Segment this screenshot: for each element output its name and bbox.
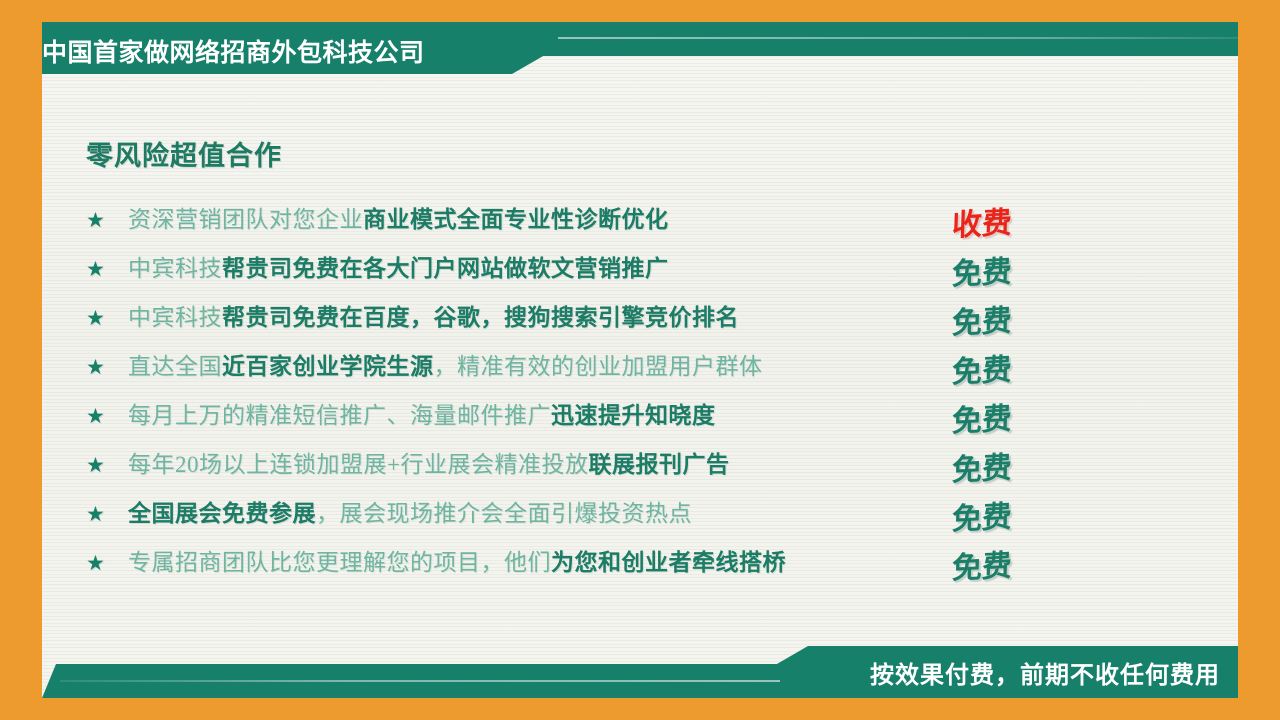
list-item-text: 专属招商团队比您更理解您的项目，他们为您和创业者牵线搭桥 — [128, 549, 1046, 578]
price-badge-row: 免费 — [952, 245, 1072, 294]
star-icon: ★ — [86, 210, 128, 231]
status-badge: 免费 — [951, 393, 1012, 440]
star-icon: ★ — [86, 455, 128, 476]
price-badge-row: 免费 — [952, 294, 1072, 343]
price-badge-row: 免费 — [952, 343, 1072, 392]
price-badge-row: 收费 — [952, 196, 1072, 245]
star-icon: ★ — [86, 406, 128, 427]
footer-divider-line — [60, 680, 780, 682]
header-divider-line — [558, 37, 1238, 39]
list-item: ★每年20场以上连锁加盟展+行业展会精准投放联展报刊广告 — [86, 441, 1046, 490]
star-icon: ★ — [86, 259, 128, 280]
list-item-text-emphasis: 帮贵司免费在百度，谷歌，搜狗搜索引擎竞价排名 — [222, 305, 739, 330]
header-title: 中国首家做网络招商外包科技公司 — [42, 33, 425, 69]
list-item-text-emphasis: 帮贵司免费在各大门户网站做软文营销推广 — [222, 256, 669, 281]
list-item-text-emphasis: 商业模式全面专业性诊断优化 — [363, 207, 669, 232]
slide-root: 中国首家做网络招商外包科技公司 零风险超值合作 ★资深营销团队对您企业商业模式全… — [0, 0, 1280, 720]
star-icon: ★ — [86, 357, 128, 378]
list-item: ★中宾科技帮贵司免费在各大门户网站做软文营销推广 — [86, 245, 1046, 294]
star-icon: ★ — [86, 504, 128, 525]
list-item-text: 资深营销团队对您企业商业模式全面专业性诊断优化 — [128, 206, 1046, 235]
section-heading: 零风险超值合作 — [86, 134, 282, 173]
status-badge: 免费 — [951, 246, 1012, 293]
list-item-text-normal: 专属招商团队比您更理解您的项目，他们 — [128, 550, 551, 575]
list-item-text-emphasis: 近百家创业学院生源 — [222, 354, 434, 379]
list-item-text: 每年20场以上连锁加盟展+行业展会精准投放联展报刊广告 — [128, 451, 1046, 480]
list-item-text-normal: 每年20场以上连锁加盟展+行业展会精准投放 — [128, 452, 588, 477]
status-badge: 免费 — [951, 491, 1012, 538]
list-item-text-normal-tail: ，精准有效的创业加盟用户群体 — [434, 354, 763, 379]
list-item-text-normal: 每月上万的精准短信推广、海量邮件推广 — [128, 403, 551, 428]
list-item-text-emphasis: 迅速提升知晓度 — [551, 403, 716, 428]
list-item-text-normal-tail: ，展会现场推介会全面引爆投资热点 — [316, 501, 692, 526]
list-item-text-normal: 直达全国 — [128, 354, 222, 379]
price-badge-row: 免费 — [952, 490, 1072, 539]
list-item: ★资深营销团队对您企业商业模式全面专业性诊断优化 — [86, 196, 1046, 245]
list-item-text: 中宾科技帮贵司免费在百度，谷歌，搜狗搜索引擎竞价排名 — [128, 304, 1046, 333]
list-item-text: 直达全国近百家创业学院生源，精准有效的创业加盟用户群体 — [128, 353, 1046, 382]
list-item: ★中宾科技帮贵司免费在百度，谷歌，搜狗搜索引擎竞价排名 — [86, 294, 1046, 343]
list-item-text: 全国展会免费参展，展会现场推介会全面引爆投资热点 — [128, 500, 1046, 529]
list-item: ★每月上万的精准短信推广、海量邮件推广迅速提升知晓度 — [86, 392, 1046, 441]
star-icon: ★ — [86, 308, 128, 329]
list-item: ★专属招商团队比您更理解您的项目，他们为您和创业者牵线搭桥 — [86, 539, 1046, 588]
status-badge: 免费 — [951, 295, 1012, 342]
status-badge: 收费 — [951, 197, 1012, 244]
star-icon: ★ — [86, 553, 128, 574]
price-badge-column: 收费免费免费免费免费免费免费免费 — [952, 196, 1072, 588]
list-item-text-normal: 中宾科技 — [128, 305, 222, 330]
price-badge-row: 免费 — [952, 441, 1072, 490]
status-badge: 免费 — [951, 344, 1012, 391]
list-item-text-emphasis: 为您和创业者牵线搭桥 — [551, 550, 786, 575]
benefit-list: ★资深营销团队对您企业商业模式全面专业性诊断优化★中宾科技帮贵司免费在各大门户网… — [86, 196, 1046, 588]
footer-title: 按效果付费，前期不收任何费用 — [870, 655, 1220, 690]
price-badge-row: 免费 — [952, 392, 1072, 441]
status-badge: 免费 — [951, 442, 1012, 489]
list-item-text: 每月上万的精准短信推广、海量邮件推广迅速提升知晓度 — [128, 402, 1046, 431]
status-badge: 免费 — [951, 540, 1012, 587]
footer-banner: 按效果付费，前期不收任何费用 — [42, 646, 1238, 698]
list-item: ★直达全国近百家创业学院生源，精准有效的创业加盟用户群体 — [86, 343, 1046, 392]
list-item-text-normal: 资深营销团队对您企业 — [128, 207, 363, 232]
list-item: ★全国展会免费参展，展会现场推介会全面引爆投资热点 — [86, 490, 1046, 539]
price-badge-row: 免费 — [952, 539, 1072, 588]
list-item-text-normal: 中宾科技 — [128, 256, 222, 281]
list-item-text-emphasis: 联展报刊广告 — [588, 452, 729, 477]
list-item-text: 中宾科技帮贵司免费在各大门户网站做软文营销推广 — [128, 255, 1046, 284]
list-item-text-emphasis: 全国展会免费参展 — [128, 501, 316, 526]
